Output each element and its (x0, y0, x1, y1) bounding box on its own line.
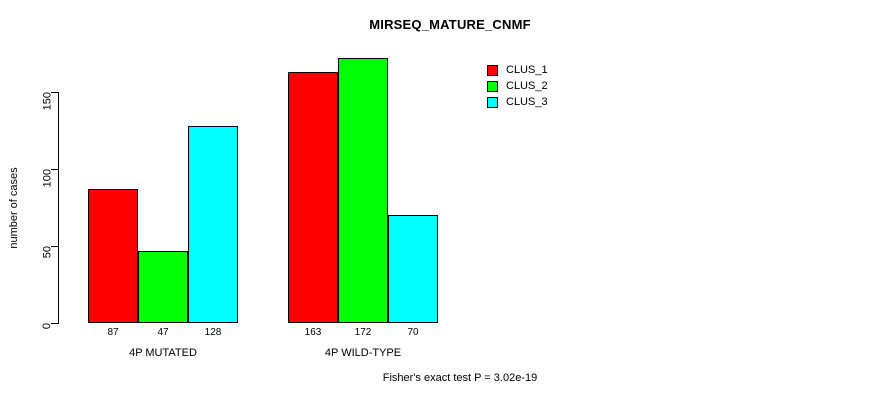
bar (288, 72, 338, 323)
legend-item-label: CLUS_2 (506, 81, 548, 92)
y-axis-tick-label-wrap: 0 (0, 323, 47, 324)
plot-area: 050100150 number of cases 87471281631727… (0, 0, 890, 400)
legend-item[interactable]: CLUS_1 (487, 62, 548, 78)
legend-item-label: CLUS_1 (506, 65, 548, 76)
legend: CLUS_1CLUS_2CLUS_3 (487, 62, 548, 110)
bar-count-label: 128 (188, 327, 238, 338)
bar (188, 126, 238, 323)
bar-count-label: 47 (138, 327, 188, 338)
y-axis-tick-label-wrap: 150 (0, 92, 47, 93)
statistical-annotation: Fisher's exact test P = 3.02e-19 (0, 372, 890, 384)
y-axis-tick-label: 0 (41, 323, 53, 329)
y-axis-tick-label: 50 (41, 246, 53, 258)
bar (338, 58, 388, 323)
bar (88, 189, 138, 323)
bar-count-label: 163 (288, 327, 338, 338)
bar-count-label: 87 (88, 327, 138, 338)
legend-color-swatch (487, 97, 498, 108)
legend-item-label: CLUS_3 (506, 97, 548, 108)
group-label: 4P MUTATED (88, 347, 238, 359)
chart-canvas: MIRSEQ_MATURE_CNMF 050100150 number of c… (0, 0, 890, 400)
y-axis-tick-label: 150 (41, 92, 53, 110)
y-axis-tick-label: 100 (41, 169, 53, 187)
legend-color-swatch (487, 81, 498, 92)
bar-count-label: 172 (338, 327, 388, 338)
bar (388, 215, 438, 323)
y-axis-title: number of cases (8, 138, 20, 278)
bar-count-label: 70 (388, 327, 438, 338)
y-axis-line (58, 92, 59, 324)
legend-color-swatch (487, 65, 498, 76)
legend-item[interactable]: CLUS_2 (487, 78, 548, 94)
group-label: 4P WILD-TYPE (288, 347, 438, 359)
legend-item[interactable]: CLUS_3 (487, 94, 548, 110)
bar (138, 251, 188, 323)
